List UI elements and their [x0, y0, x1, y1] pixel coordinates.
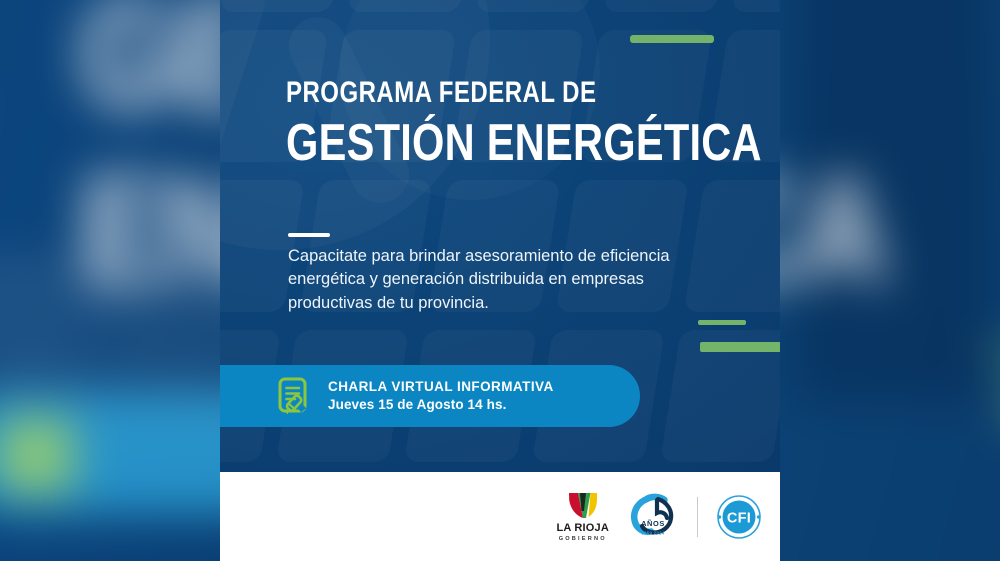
green-accent-mid-thin — [698, 320, 746, 325]
la-rioja-shield-icon — [566, 490, 600, 520]
charla-banner[interactable]: CHARLA VIRTUAL INFORMATIVA Jueves 15 de … — [220, 365, 640, 427]
green-accent-top — [630, 35, 714, 43]
document-pencil-icon — [278, 377, 314, 415]
poster-stage: GESTIÓN ENERGÉTICA Capacitate para brind… — [0, 0, 1000, 561]
65-anios-logo: AÑOS 1959 2024 — [627, 493, 679, 541]
la-rioja-gobierno-logo: LA RIOJA GOBIERNO — [556, 490, 609, 543]
cfi-mark-icon: CFI — [716, 494, 762, 540]
page-title: GESTIÓN ENERGÉTICA — [286, 117, 762, 169]
body-text: Capacitate para brindar asesoramiento de… — [288, 245, 698, 315]
footer-logo-bar: LA RIOJA GOBIERNO AÑOS 1959 2024 — [220, 472, 780, 561]
headline-block: PROGRAMA FEDERAL DE GESTIÓN ENERGÉTICA — [286, 78, 780, 169]
65-anios-label: AÑOS — [641, 519, 665, 528]
la-rioja-name: LA RIOJA — [556, 523, 609, 534]
la-rioja-subtitle: GOBIERNO — [559, 537, 607, 543]
cfi-label: CFI — [727, 510, 751, 526]
eyebrow-text: PROGRAMA FEDERAL DE — [286, 78, 762, 108]
background-ghost-green-bar-1 — [995, 346, 1000, 360]
background-shade-left — [0, 0, 31, 86]
65-anios-dates: 1959 2024 — [641, 530, 665, 535]
cfi-logo: CFI — [716, 494, 762, 540]
poster-panel: PROGRAMA FEDERAL DE GESTIÓN ENERGÉTICA C… — [220, 0, 780, 561]
background-ghost-icon — [0, 418, 74, 493]
65-anios-mark-icon: AÑOS 1959 2024 — [627, 493, 679, 541]
green-accent-mid-thick — [700, 342, 780, 352]
divider-rule — [288, 233, 330, 237]
charla-banner-text: CHARLA VIRTUAL INFORMATIVA Jueves 15 de … — [328, 378, 554, 414]
charla-banner-schedule: Jueves 15 de Agosto 14 hs. — [328, 396, 554, 414]
charla-banner-heading: CHARLA VIRTUAL INFORMATIVA — [328, 378, 554, 396]
logo-divider — [697, 497, 698, 537]
